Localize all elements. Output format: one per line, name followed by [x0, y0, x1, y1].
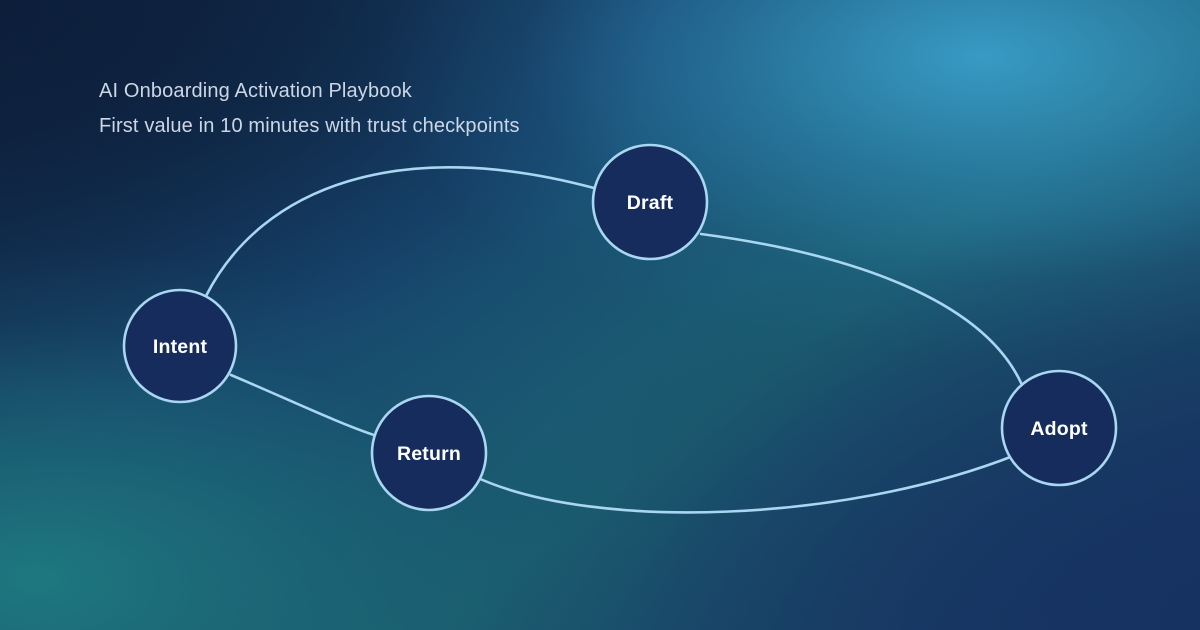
edge-return-adopt — [478, 456, 1013, 512]
edge-intent-return — [231, 375, 377, 436]
page-title: AI Onboarding Activation Playbook — [99, 74, 520, 109]
caption-block: AI Onboarding Activation Playbook First … — [99, 74, 520, 144]
edge-draft-adopt — [701, 234, 1022, 385]
node-adopt[interactable]: Adopt — [1002, 371, 1116, 485]
node-return[interactable]: Return — [372, 396, 486, 510]
node-intent-label: Intent — [153, 336, 208, 358]
node-draft[interactable]: Draft — [593, 145, 707, 259]
node-draft-label: Draft — [627, 192, 674, 214]
edge-intent-draft — [206, 167, 594, 296]
page-subtitle: First value in 10 minutes with trust che… — [99, 109, 520, 144]
diagram-canvas: AI Onboarding Activation Playbook First … — [0, 0, 1200, 630]
node-intent[interactable]: Intent — [124, 290, 236, 402]
node-return-label: Return — [397, 443, 461, 465]
node-adopt-label: Adopt — [1030, 418, 1088, 440]
